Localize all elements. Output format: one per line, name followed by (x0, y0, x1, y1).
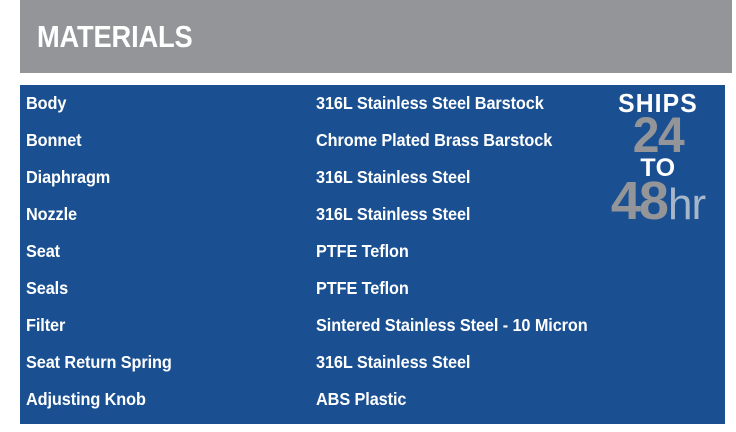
materials-spec-card: MATERIALS Body 316L Stainless Steel Bars… (0, 0, 736, 432)
table-row: Adjusting Knob ABS Plastic (20, 391, 725, 424)
materials-table: Body 316L Stainless Steel Barstock Bonne… (20, 85, 725, 424)
table-row: Seat Return Spring 316L Stainless Steel (20, 354, 725, 391)
component-label: Seat Return Spring (26, 354, 296, 372)
badge-24-text: 24 (598, 110, 719, 160)
badge-48-text: 48 (611, 174, 667, 228)
component-label: Adjusting Knob (26, 391, 296, 409)
component-label: Bonnet (26, 132, 296, 150)
materials-header-bar: MATERIALS (20, 0, 732, 73)
material-value: Sintered Stainless Steel - 10 Micron (316, 317, 696, 335)
component-label: Filter (26, 317, 296, 335)
page-title: MATERIALS (37, 21, 193, 52)
badge-hr-text: hr (668, 183, 705, 227)
badge-48hr-row: 48 hr (595, 174, 721, 228)
table-row: Filter Sintered Stainless Steel - 10 Mic… (20, 317, 725, 354)
component-label: Body (26, 95, 296, 113)
material-value: ABS Plastic (316, 391, 696, 409)
ships-24-to-48hr-badge: SHIPS 24 TO 48 hr (595, 90, 721, 260)
table-row: Seals PTFE Teflon (20, 280, 725, 317)
component-label: Seat (26, 243, 296, 261)
component-label: Seals (26, 280, 296, 298)
component-label: Diaphragm (26, 169, 296, 187)
component-label: Nozzle (26, 206, 296, 224)
material-value: 316L Stainless Steel (316, 354, 696, 372)
material-value: PTFE Teflon (316, 280, 696, 298)
